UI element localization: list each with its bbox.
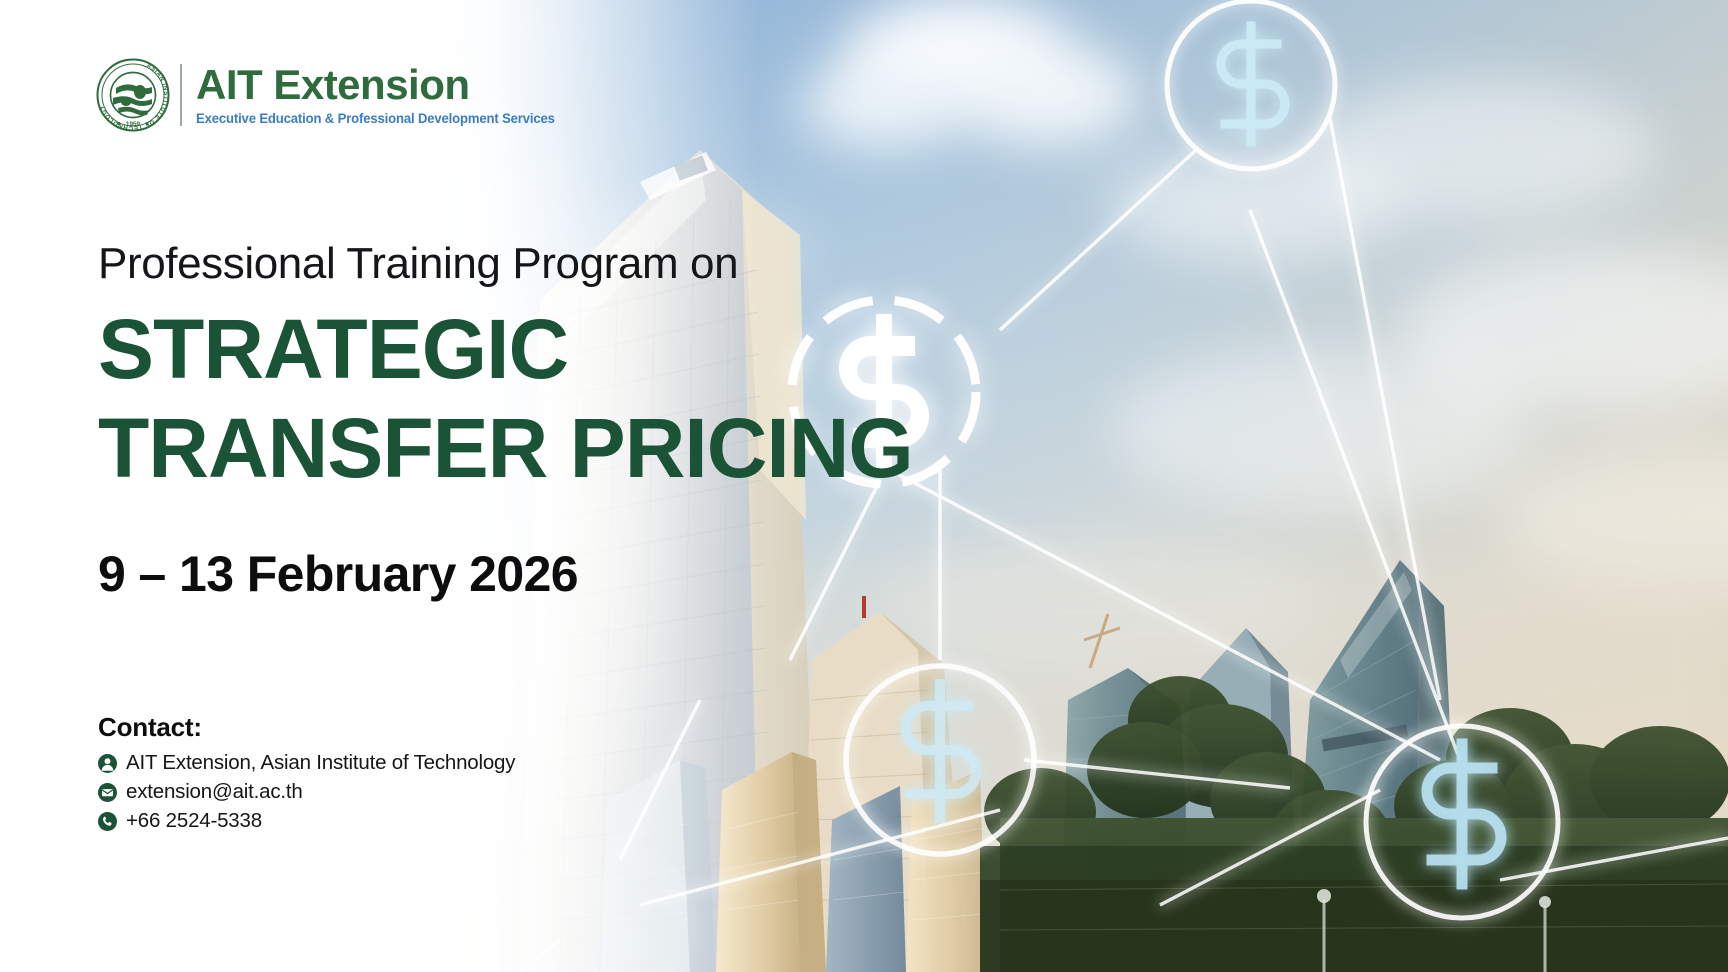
poster-canvas: ASIAN INSTITUTE OF TECHNOLOGY 1959 AIT E… [0, 0, 1728, 972]
program-dates: 9 – 13 February 2026 [98, 545, 578, 603]
logo-text-group: AIT Extension Executive Education & Prof… [196, 64, 566, 127]
phone-icon [98, 812, 117, 831]
svg-text:1959: 1959 [126, 121, 141, 128]
ait-seal-icon: ASIAN INSTITUTE OF TECHNOLOGY 1959 [96, 58, 170, 132]
program-title-line2: TRANSFER PRICING [98, 399, 913, 498]
brand-tagline: Executive Education & Professional Devel… [196, 111, 555, 126]
envelope-icon [98, 783, 117, 802]
program-title: STRATEGIC TRANSFER PRICING [98, 300, 913, 498]
contact-email-row[interactable]: extension@ait.ac.th [98, 780, 515, 804]
logo-divider [180, 64, 182, 126]
contact-email: extension@ait.ac.th [126, 780, 303, 804]
contact-heading: Contact: [98, 712, 515, 743]
contact-organization-row: AIT Extension, Asian Institute of Techno… [98, 751, 515, 775]
brand-name: AIT Extension [196, 64, 566, 107]
program-kicker: Professional Training Program on [98, 240, 738, 288]
poster-content: ASIAN INSTITUTE OF TECHNOLOGY 1959 AIT E… [0, 0, 1728, 972]
contact-phone-row[interactable]: +66 2524-5338 [98, 809, 515, 833]
contact-block: Contact: AIT Extension, Asian Institute … [98, 712, 515, 833]
brand-logo[interactable]: ASIAN INSTITUTE OF TECHNOLOGY 1959 AIT E… [96, 58, 566, 132]
contact-organization: AIT Extension, Asian Institute of Techno… [126, 751, 515, 775]
person-icon [98, 754, 117, 773]
program-title-line1: STRATEGIC [98, 302, 568, 396]
contact-phone: +66 2524-5338 [126, 809, 262, 833]
